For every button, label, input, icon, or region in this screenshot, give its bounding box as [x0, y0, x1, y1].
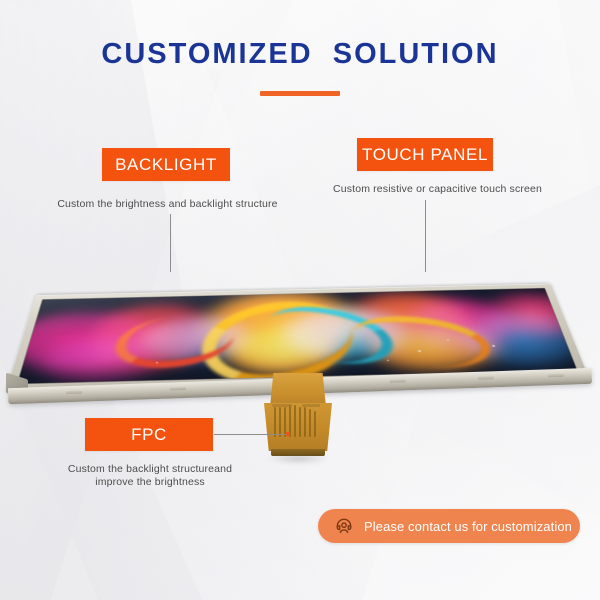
fpc-ribbon-cable — [264, 373, 332, 463]
customized-solution-banner: CUSTOMIZED SOLUTION BACKLIGHT Custom the… — [0, 0, 600, 600]
fpc-drop-shadow — [266, 455, 330, 464]
callout-label-fpc: FPC — [131, 425, 167, 445]
panel-screen-area — [18, 288, 577, 383]
leader-dot-fpc — [286, 432, 290, 436]
contact-us-label: Please contact us for customization — [364, 519, 572, 534]
callout-chip-backlight[interactable]: BACKLIGHT — [102, 148, 230, 181]
page-title: CUSTOMIZED SOLUTION — [0, 38, 600, 71]
fpc-body — [264, 403, 332, 451]
callout-caption-fpc: Custom the backlight structureand improv… — [45, 463, 255, 489]
headset-support-icon — [334, 516, 354, 536]
callout-caption-backlight: Custom the brightness and backlight stru… — [40, 198, 295, 211]
leader-line-fpc — [214, 434, 288, 435]
fpc-neck — [270, 373, 326, 407]
callout-chip-touch-panel[interactable]: TOUCH PANEL — [357, 138, 493, 171]
callout-label-touch-panel: TOUCH PANEL — [362, 145, 488, 165]
screen-artwork — [18, 288, 577, 383]
callout-label-backlight: BACKLIGHT — [115, 155, 217, 175]
callout-chip-fpc[interactable]: FPC — [85, 418, 213, 451]
contact-us-button[interactable]: Please contact us for customization — [318, 509, 580, 543]
title-underline-rule — [260, 91, 340, 96]
screen-glare — [18, 288, 577, 383]
callout-caption-touch-panel: Custom resistive or capacitive touch scr… — [315, 183, 560, 196]
